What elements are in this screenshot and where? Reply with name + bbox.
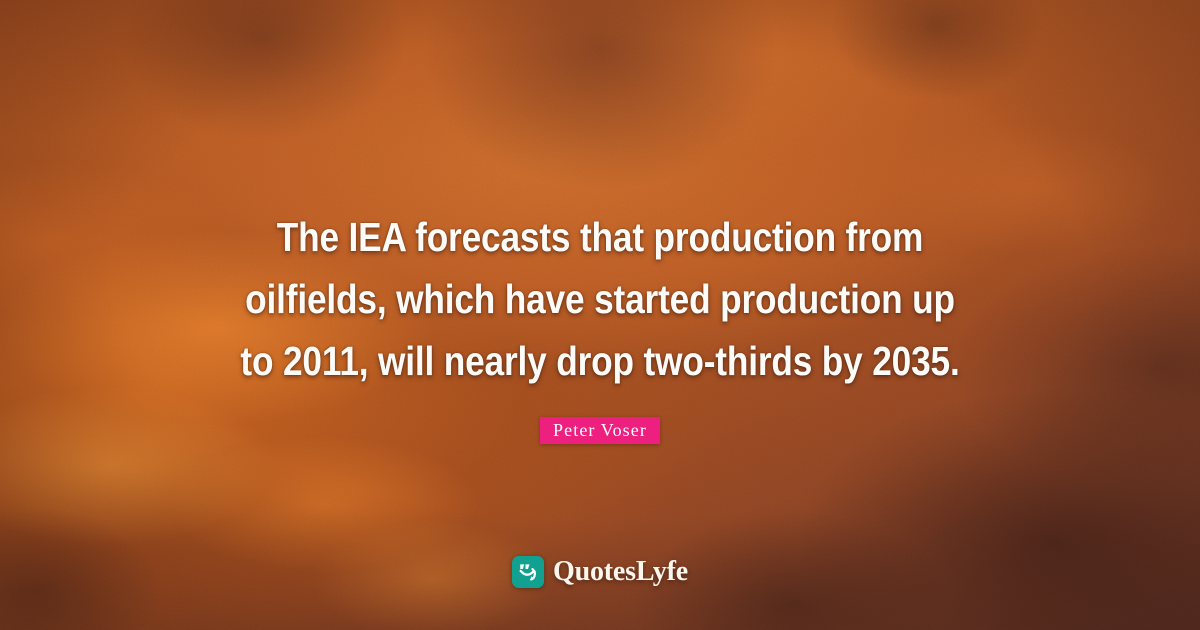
author-badge: Peter Voser (540, 417, 660, 444)
quote-text: The IEA forecasts that production from o… (179, 206, 1022, 392)
quote-block: The IEA forecasts that production from o… (0, 206, 1200, 392)
card-content: The IEA forecasts that production from o… (0, 0, 1200, 630)
quote-card: The IEA forecasts that production from o… (0, 0, 1200, 630)
quote-bubble-glyph (512, 556, 544, 588)
brand-logo[interactable]: QuotesLyfe (512, 556, 688, 588)
quote-bubble-icon (512, 556, 544, 588)
brand-name: QuotesLyfe (553, 556, 688, 588)
